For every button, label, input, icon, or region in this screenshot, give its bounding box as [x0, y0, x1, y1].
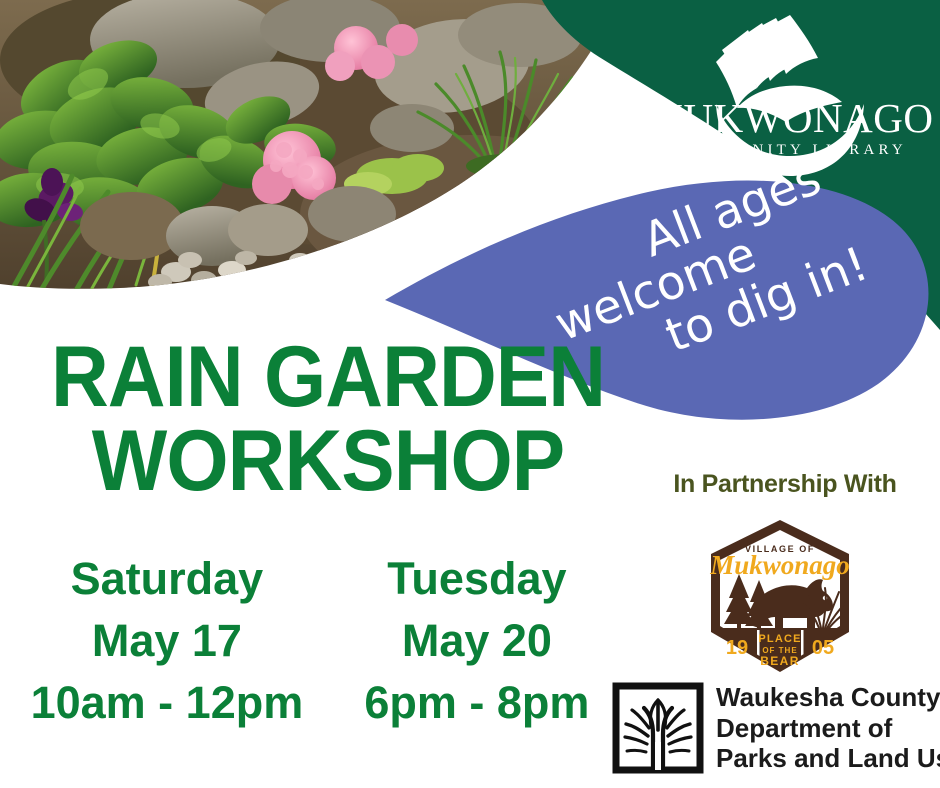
library-subtitle: COMMUNITY LIBRARY [673, 142, 907, 158]
badge-village-name: Mukwonago [709, 550, 850, 580]
flyer-poster: MUKWONAGO COMMUNITY LIBRARY All ages wel… [0, 0, 940, 788]
badge-year-right: 05 [812, 637, 834, 659]
tree-icon [612, 682, 704, 774]
waukesha-line-2: Department of [716, 713, 940, 743]
headline-line-2: WORKSHOP [40, 419, 617, 503]
session-item: Tuesday May 20 6pm - 8pm [364, 548, 589, 734]
session-day: Tuesday [364, 548, 589, 610]
session-date: May 20 [364, 610, 589, 672]
headline-line-1: RAIN GARDEN [40, 335, 617, 419]
session-date: May 17 [31, 610, 304, 672]
session-time: 10am - 12pm [31, 672, 304, 734]
session-item: Saturday May 17 10am - 12pm [31, 548, 304, 734]
session-time: 6pm - 8pm [364, 672, 589, 734]
partnership-label: In Partnership With [640, 470, 930, 499]
session-day: Saturday [31, 548, 304, 610]
village-of-mukwonago-badge: VILLAGE OF Mukwonago 19 05 PLACE OF THE … [697, 518, 863, 678]
badge-year-left: 19 [726, 637, 748, 659]
waukesha-county-logo: Waukesha County Department of Parks and … [612, 678, 934, 778]
waukesha-line-3: Parks and Land Use [716, 743, 940, 773]
badge-motto-1: PLACE [758, 633, 801, 645]
waukesha-county-text: Waukesha County Department of Parks and … [716, 682, 940, 773]
session-list: Saturday May 17 10am - 12pm Tuesday May … [0, 548, 620, 734]
page-title: RAIN GARDEN WORKSHOP [18, 335, 638, 504]
library-name: MUKWONAGO [647, 95, 934, 141]
waukesha-line-1: Waukesha County [716, 682, 940, 712]
badge-motto-3: BEAR [760, 654, 800, 668]
